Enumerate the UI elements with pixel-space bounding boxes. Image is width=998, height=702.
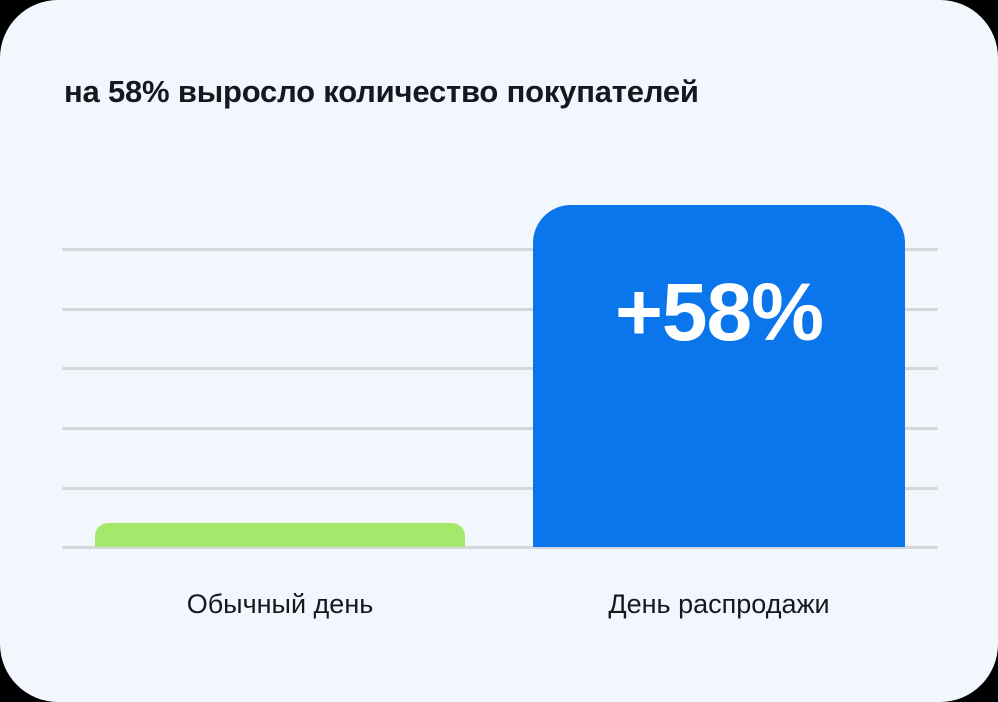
bar-sale-day xyxy=(533,205,905,547)
x-axis-label-sale-day: День распродажи xyxy=(533,586,905,622)
bar-normal-day xyxy=(95,523,465,547)
x-axis-label-normal-day: Обычный день xyxy=(95,586,465,622)
stat-card: на 58% выросло количество покупателей +5… xyxy=(0,0,998,702)
x-axis-labels: Обычный день День распродажи xyxy=(0,586,998,626)
bar-value-label-sale: +58% xyxy=(533,272,905,354)
bar-chart: +58% Обычный день День распродажи xyxy=(0,0,998,702)
